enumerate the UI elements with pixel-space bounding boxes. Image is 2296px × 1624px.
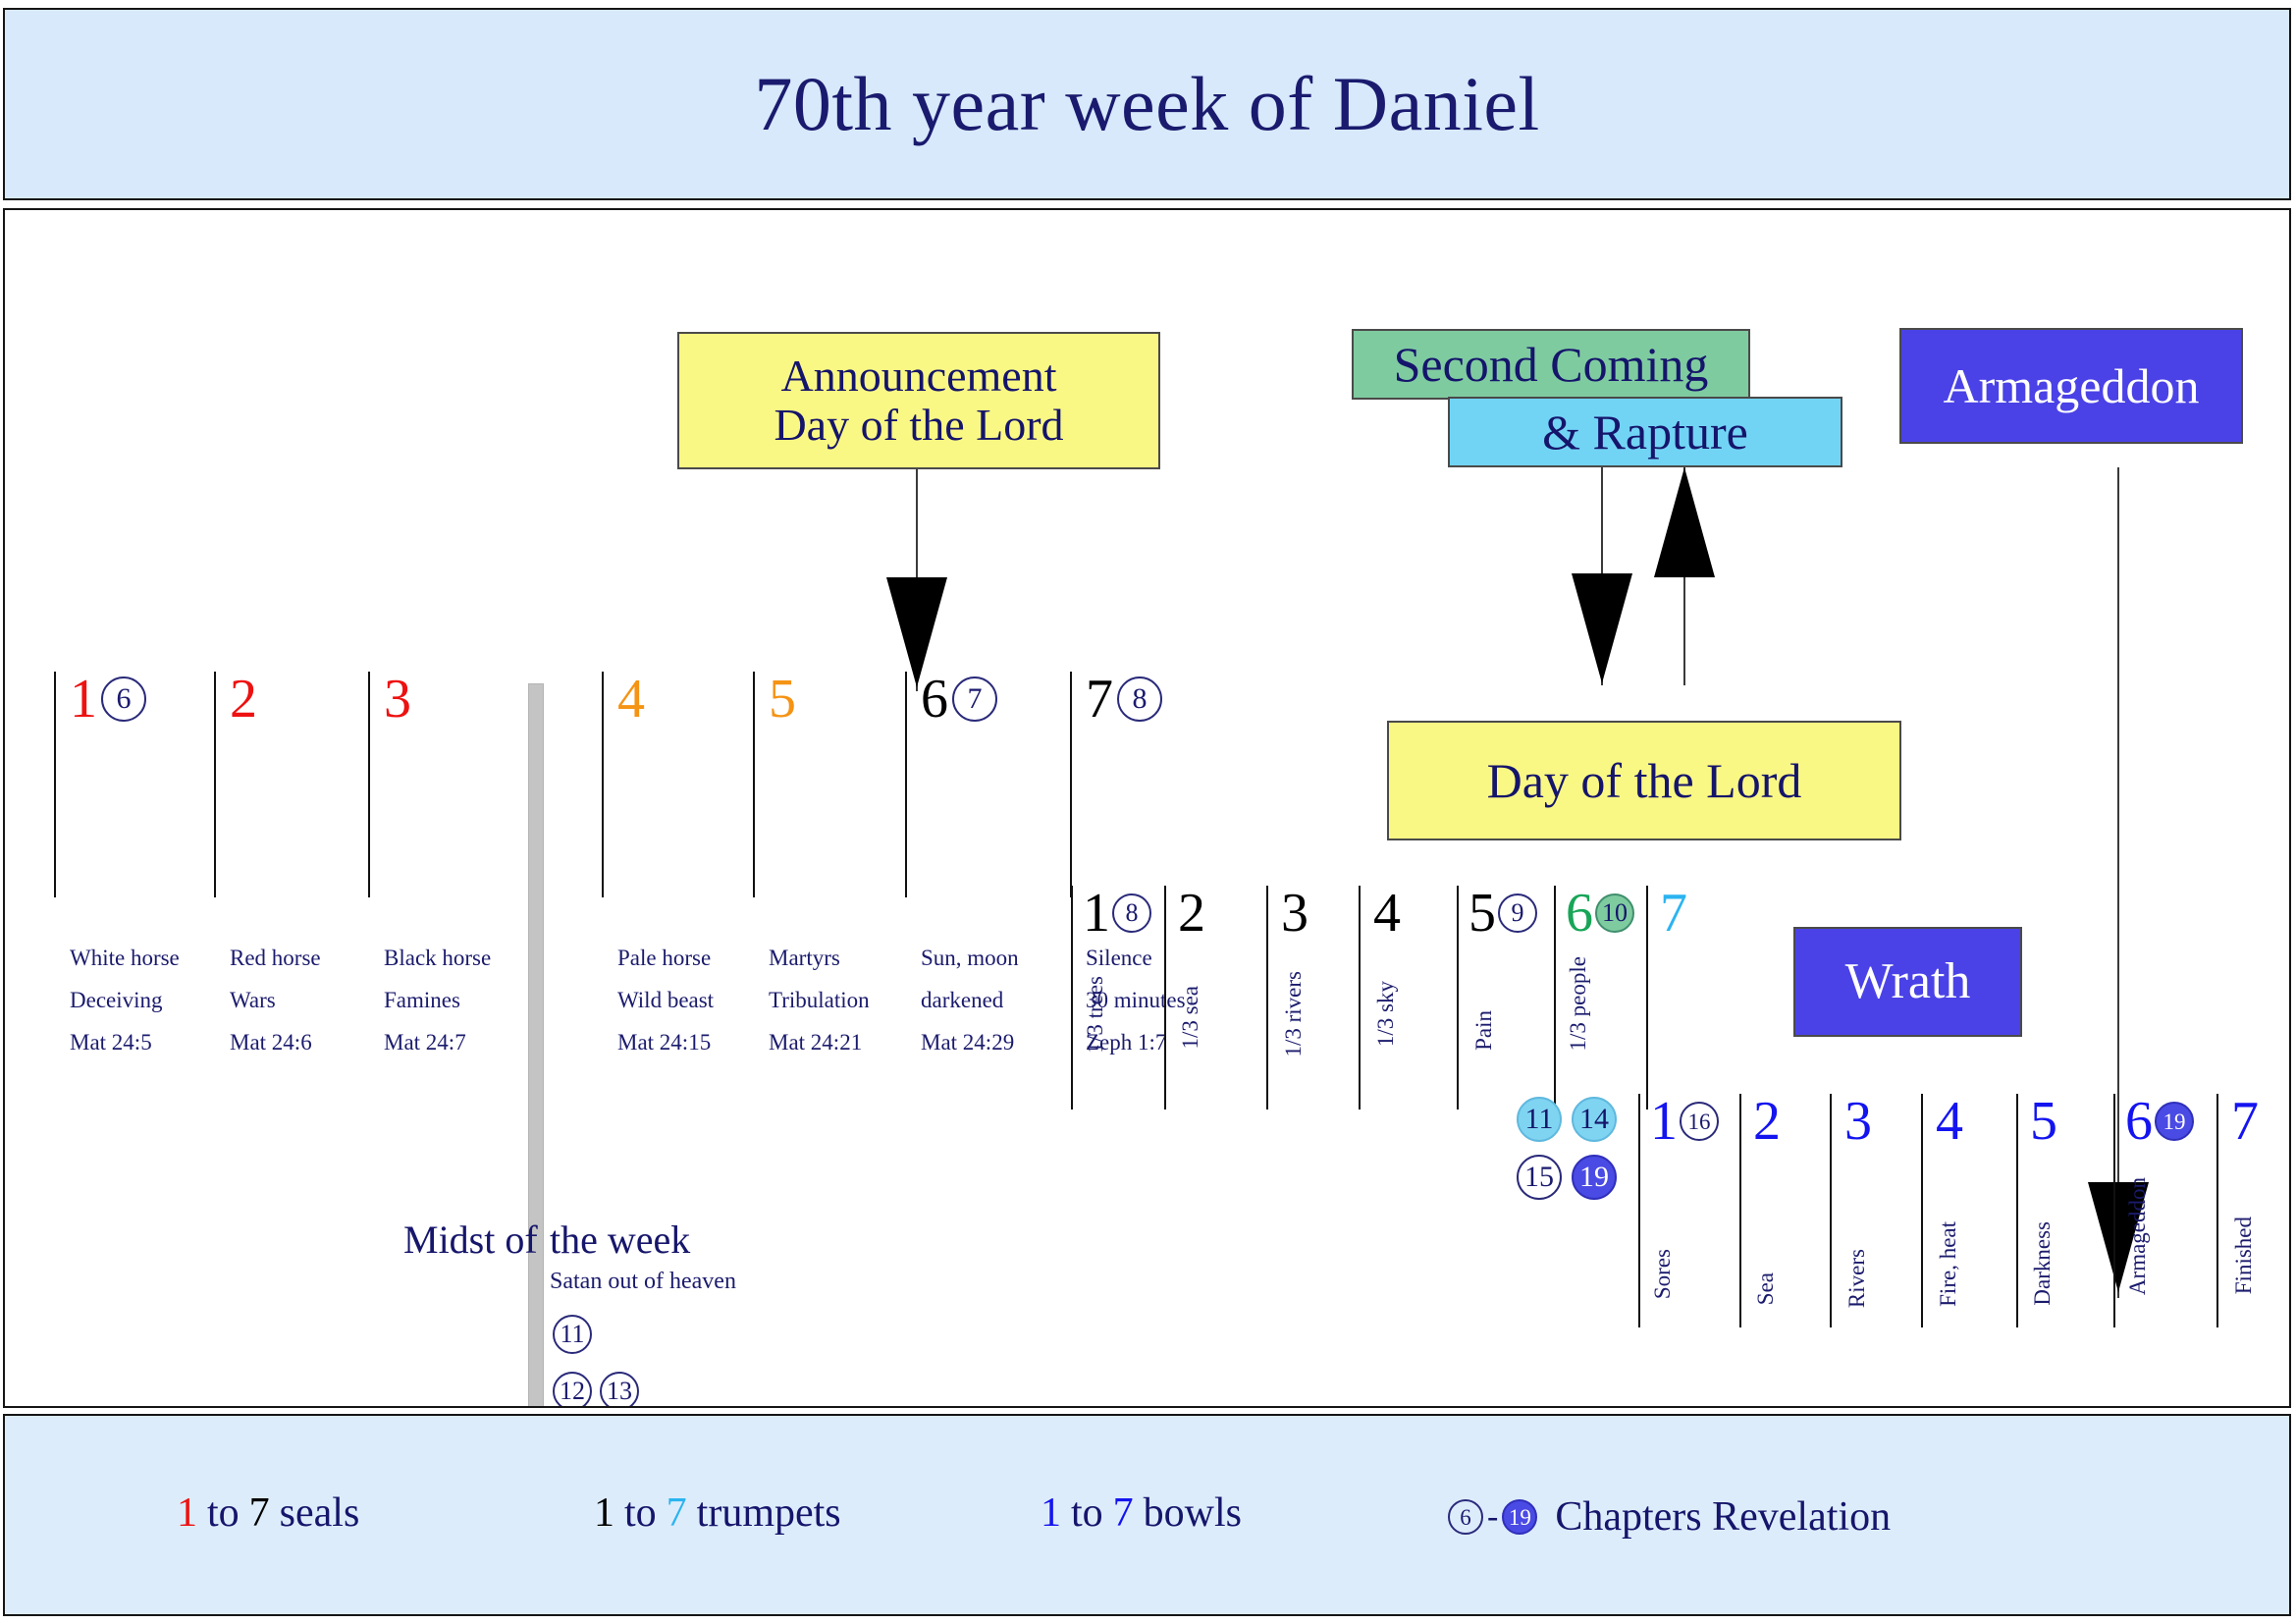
trumpet-divider-3: [1266, 886, 1268, 1110]
legend-trumpets: 1 to 7 trumpets: [594, 1492, 841, 1534]
callout-second-coming-label: Second Coming: [1394, 338, 1709, 391]
seal-5-line1: Martyrs: [769, 945, 870, 971]
bowl-6-header: 6 19: [2125, 1094, 2194, 1149]
seal-2-line1: Red horse: [230, 945, 321, 971]
seal-divider-7: [1070, 672, 1072, 897]
chip-11: 11: [1517, 1097, 1562, 1142]
legend-seals-to: to: [207, 1492, 240, 1534]
legend-seals-word: seals: [280, 1492, 360, 1534]
bowl-divider-5: [2016, 1094, 2018, 1327]
seal-2-text: Red horse Wars Mat 24:6: [230, 945, 321, 1071]
midst-label-left: Midst of: [403, 1217, 538, 1263]
trumpet-2-header: 2: [1178, 886, 1205, 941]
seal-6-line3: Mat 24:29: [921, 1029, 1019, 1056]
trumpet-divider-4: [1359, 886, 1361, 1110]
trumpet-divider-7: [1646, 886, 1648, 1110]
legend-bowls: 1 to 7 bowls: [1041, 1492, 1242, 1534]
seal-5-line2: Tribulation: [769, 987, 870, 1013]
seal-4-number: 4: [617, 672, 645, 727]
legend-bowls-to: to: [1071, 1492, 1103, 1534]
trumpet-3-number: 3: [1281, 886, 1308, 941]
bowl-6-number: 6: [2125, 1094, 2153, 1149]
seal-2-number: 2: [230, 672, 257, 727]
seal-6-chapter-chip: 7: [952, 677, 997, 722]
trumpet-1-label: 1/3 trees: [1083, 976, 1108, 1054]
trumpet-1-header: 1 8: [1083, 886, 1151, 941]
seal-2-header: 2: [230, 672, 257, 727]
legend-trumpets-to: to: [624, 1492, 657, 1534]
trumpet-4-label: 1/3 sky: [1373, 981, 1399, 1047]
seal-4-header: 4: [617, 672, 645, 727]
seal-7-chapter-chip: 8: [1117, 677, 1162, 722]
bowl-divider-6: [2113, 1094, 2115, 1327]
legend-seals-first: 1: [177, 1492, 197, 1534]
satan-out-of-heaven-label: Satan out of heaven: [550, 1269, 736, 1295]
seal-3-header: 3: [384, 672, 411, 727]
bowl-4-header: 4: [1936, 1094, 1963, 1149]
bowl-7-label: Finished: [2231, 1217, 2257, 1294]
callout-armageddon: Armageddon: [1899, 328, 2243, 444]
chip-19: 19: [1572, 1155, 1617, 1200]
callout-rapture-label: & Rapture: [1542, 406, 1748, 459]
callout-announcement-line2: Day of the Lord: [774, 401, 1063, 450]
bowl-divider-7: [2216, 1094, 2218, 1327]
legend-trumpets-word: trumpets: [697, 1492, 841, 1534]
callout-announcement: Announcement Day of the Lord: [677, 332, 1160, 469]
seal-5-header: 5: [769, 672, 796, 727]
trumpet-3-label: 1/3 rivers: [1281, 971, 1307, 1057]
page-title: 70th year week of Daniel: [754, 66, 1539, 142]
seal-4-text: Pale horse Wild beast Mat 24:15: [617, 945, 714, 1071]
arrow-second-coming-down: [1572, 467, 1632, 685]
bowl-5-label: Darkness: [2030, 1221, 2056, 1306]
trumpet-2-number: 2: [1178, 886, 1205, 941]
bowl-7-number: 7: [2231, 1094, 2259, 1149]
arrow-armageddon-down: [2088, 467, 2149, 1298]
trumpet-extra-chips-row-2: 15 19: [1517, 1155, 1617, 1200]
seal-divider-5: [753, 672, 755, 897]
bowl-2-header: 2: [1753, 1094, 1781, 1149]
callout-day-of-the-lord-label: Day of the Lord: [1487, 754, 1802, 807]
bowl-4-number: 4: [1936, 1094, 1963, 1149]
seal-1-line3: Mat 24:5: [70, 1029, 180, 1056]
bowl-1-label: Sores: [1650, 1249, 1676, 1299]
legend-chapter-chip-19: 19: [1502, 1499, 1537, 1535]
callout-armageddon-label: Armageddon: [1943, 359, 2199, 412]
bowl-1-header: 1 16: [1650, 1094, 1719, 1149]
seal-6-text: Sun, moon darkened Mat 24:29: [921, 945, 1019, 1071]
legend-trumpets-first: 1: [594, 1492, 614, 1534]
callout-wrath-label: Wrath: [1845, 954, 1971, 1009]
legend-bowls-last: 7: [1113, 1492, 1134, 1534]
seal-7-header: 7 8: [1086, 672, 1162, 727]
seal-2-line2: Wars: [230, 987, 321, 1013]
seal-6-header: 6 7: [921, 672, 997, 727]
bowl-3-label: Rivers: [1844, 1249, 1870, 1308]
arrow-rapture-up: [1654, 467, 1715, 685]
callout-rapture: & Rapture: [1448, 397, 1842, 467]
trumpet-6-label: 1/3 people: [1566, 956, 1591, 1051]
callout-announcement-line1: Announcement: [774, 352, 1063, 401]
trumpet-5-number: 5: [1468, 886, 1496, 941]
legend-chapter-dash: -: [1487, 1500, 1498, 1534]
midst-of-week-bar: [528, 683, 544, 1408]
callout-wrath: Wrath: [1793, 927, 2022, 1037]
header-band: 70th year week of Daniel: [3, 8, 2291, 200]
midst-chips-row-1: 11: [553, 1315, 592, 1354]
legend-bowls-word: bowls: [1144, 1492, 1242, 1534]
seal-2-line3: Mat 24:6: [230, 1029, 321, 1056]
midst-label-right: the week: [550, 1217, 690, 1263]
trumpet-divider-6: [1554, 886, 1556, 1110]
bowl-1-chapter-chip: 16: [1680, 1102, 1719, 1141]
legend-seals: 1 to 7 seals: [177, 1492, 359, 1534]
bowl-3-header: 3: [1844, 1094, 1872, 1149]
bowl-6-label: Armageddon: [2125, 1177, 2151, 1295]
bowl-divider-2: [1739, 1094, 1741, 1327]
seal-5-number: 5: [769, 672, 796, 727]
chip-14: 14: [1572, 1097, 1617, 1142]
legend-chapters-text: Chapters Revelation: [1555, 1496, 1891, 1538]
callout-day-of-the-lord: Day of the Lord: [1387, 721, 1901, 840]
trumpet-divider-2: [1164, 886, 1166, 1110]
trumpet-4-number: 4: [1373, 886, 1401, 941]
seal-6-line1: Sun, moon: [921, 945, 1019, 971]
trumpet-4-header: 4: [1373, 886, 1401, 941]
callout-second-coming: Second Coming: [1352, 329, 1750, 400]
seal-1-header: 1 6: [70, 672, 146, 727]
trumpet-5-chapter-chip: 9: [1498, 893, 1537, 933]
seal-3-number: 3: [384, 672, 411, 727]
bowl-3-number: 3: [1844, 1094, 1872, 1149]
seal-6-line2: darkened: [921, 987, 1019, 1013]
trumpet-3-header: 3: [1281, 886, 1308, 941]
bowl-5-number: 5: [2030, 1094, 2057, 1149]
bowl-2-label: Sea: [1753, 1272, 1779, 1305]
footer-legend-band: 1 to 7 seals 1 to 7 trumpets 1 to 7 bowl…: [3, 1414, 2291, 1616]
seal-1-line1: White horse: [70, 945, 180, 971]
seal-divider-3: [368, 672, 370, 897]
trumpet-7-number: 7: [1660, 886, 1687, 941]
legend-seals-last: 7: [249, 1492, 270, 1534]
trumpet-6-number: 6: [1566, 886, 1593, 941]
bowl-1-number: 1: [1650, 1094, 1678, 1149]
bowl-5-header: 5: [2030, 1094, 2057, 1149]
seal-3-line2: Famines: [384, 987, 491, 1013]
trumpet-1-chapter-chip: 8: [1112, 893, 1151, 933]
seal-divider-2: [214, 672, 216, 897]
seal-6-number: 6: [921, 672, 948, 727]
bowl-4-label: Fire, heat: [1936, 1221, 1961, 1307]
seal-1-number: 1: [70, 672, 97, 727]
seal-3-line1: Black horse: [384, 945, 491, 971]
arrow-announcement-down: [886, 469, 947, 691]
seal-3-line3: Mat 24:7: [384, 1029, 491, 1056]
bowl-6-chapter-chip: 19: [2155, 1102, 2194, 1141]
seal-4-line3: Mat 24:15: [617, 1029, 714, 1056]
seal-7-line1: Silence: [1086, 945, 1186, 971]
trumpet-5-label: Pain: [1471, 1010, 1497, 1051]
midst-chip-11: 11: [553, 1315, 592, 1354]
trumpet-6-chapter-chip: 10: [1595, 893, 1634, 933]
seal-3-text: Black horse Famines Mat 24:7: [384, 945, 491, 1071]
seal-4-line2: Wild beast: [617, 987, 714, 1013]
midst-chip-13: 13: [600, 1372, 639, 1408]
seal-divider-6: [905, 672, 907, 897]
seal-divider-1: [54, 672, 56, 897]
trumpet-extra-chips-row-1: 11 14: [1517, 1097, 1617, 1142]
trumpet-1-number: 1: [1083, 886, 1110, 941]
seal-1-chapter-chip: 6: [101, 677, 146, 722]
trumpet-divider-5: [1457, 886, 1459, 1110]
trumpet-divider-1: [1071, 886, 1073, 1110]
midst-chips-row-2: 12 13: [553, 1372, 639, 1408]
bowl-2-number: 2: [1753, 1094, 1781, 1149]
legend-bowls-first: 1: [1041, 1492, 1061, 1534]
bowl-divider-1: [1638, 1094, 1640, 1327]
seal-1-text: White horse Deceiving Mat 24:5: [70, 945, 180, 1071]
seal-divider-4: [602, 672, 604, 897]
legend-trumpets-last: 7: [667, 1492, 687, 1534]
chip-15: 15: [1517, 1155, 1562, 1200]
bowl-divider-4: [1921, 1094, 1923, 1327]
bowl-7-header: 7: [2231, 1094, 2259, 1149]
trumpet-6-header: 6 10: [1566, 886, 1634, 941]
midst-chip-12: 12: [553, 1372, 592, 1408]
trumpet-7-header: 7: [1660, 886, 1687, 941]
seal-1-line2: Deceiving: [70, 987, 180, 1013]
trumpet-5-header: 5 9: [1468, 886, 1537, 941]
legend-chapter-chip-6: 6: [1448, 1499, 1483, 1535]
seal-7-number: 7: [1086, 672, 1113, 727]
legend-chapters: 6 - 19 Chapters Revelation: [1448, 1496, 1891, 1538]
trumpet-2-label: 1/3 sea: [1178, 986, 1203, 1050]
seal-5-text: Martyrs Tribulation Mat 24:21: [769, 945, 870, 1071]
bowl-divider-3: [1830, 1094, 1832, 1327]
diagram-canvas: Announcement Day of the Lord Second Comi…: [3, 208, 2291, 1408]
seal-4-line1: Pale horse: [617, 945, 714, 971]
seal-5-line3: Mat 24:21: [769, 1029, 870, 1056]
